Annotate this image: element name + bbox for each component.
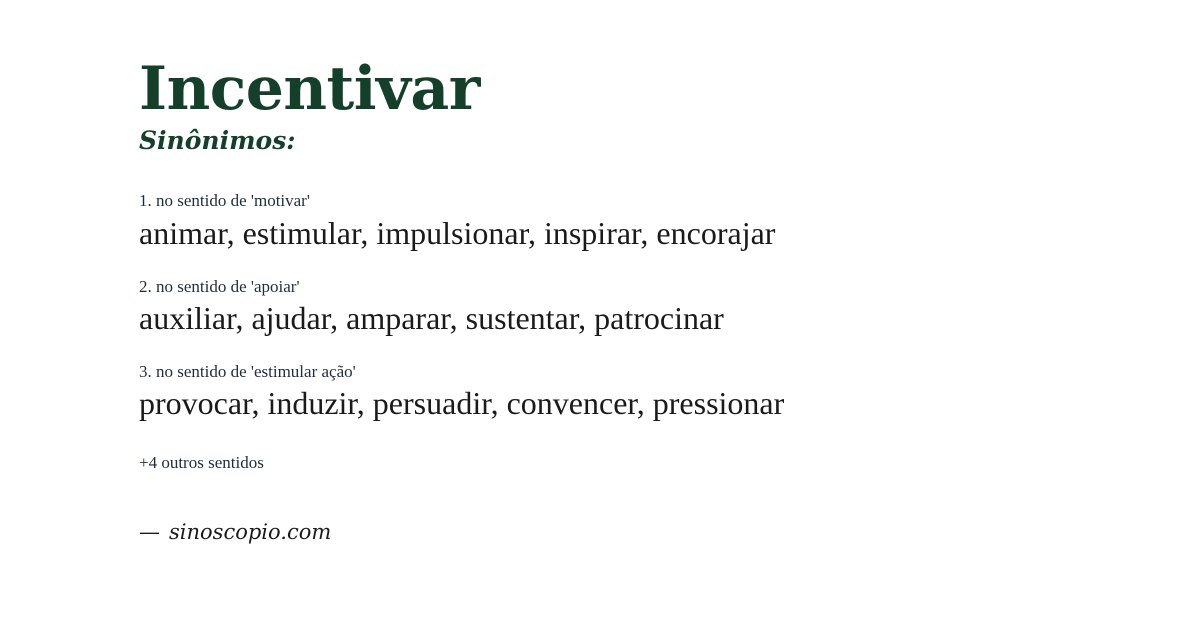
sense-synonyms: provocar, induzir, persuadir, convencer,…: [139, 384, 1140, 423]
em-dash-glyph: —: [139, 520, 160, 545]
more-senses-note: +4 outros sentidos: [139, 452, 1140, 473]
page-title: Incentivar: [139, 58, 1140, 120]
source-attribution: — sinoscopio.com: [139, 520, 1140, 545]
sense-entry: 3. no sentido de 'estimular ação' provoc…: [139, 361, 1140, 423]
synonym-card: Incentivar Sinônimos: 1. no sentido de '…: [0, 0, 1200, 628]
source-domain: sinoscopio.com: [169, 520, 331, 545]
sense-list: 1. no sentido de 'motivar' animar, estim…: [139, 190, 1140, 423]
sense-label: 1. no sentido de 'motivar': [139, 190, 1140, 211]
sense-label: 3. no sentido de 'estimular ação': [139, 361, 1140, 382]
sense-label: 2. no sentido de 'apoiar': [139, 276, 1140, 297]
sense-entry: 1. no sentido de 'motivar' animar, estim…: [139, 190, 1140, 252]
sense-synonyms: auxiliar, ajudar, amparar, sustentar, pa…: [139, 299, 1140, 338]
section-subtitle: Sinônimos:: [139, 126, 1140, 156]
sense-synonyms: animar, estimular, impulsionar, inspirar…: [139, 214, 1140, 253]
sense-entry: 2. no sentido de 'apoiar' auxiliar, ajud…: [139, 276, 1140, 338]
